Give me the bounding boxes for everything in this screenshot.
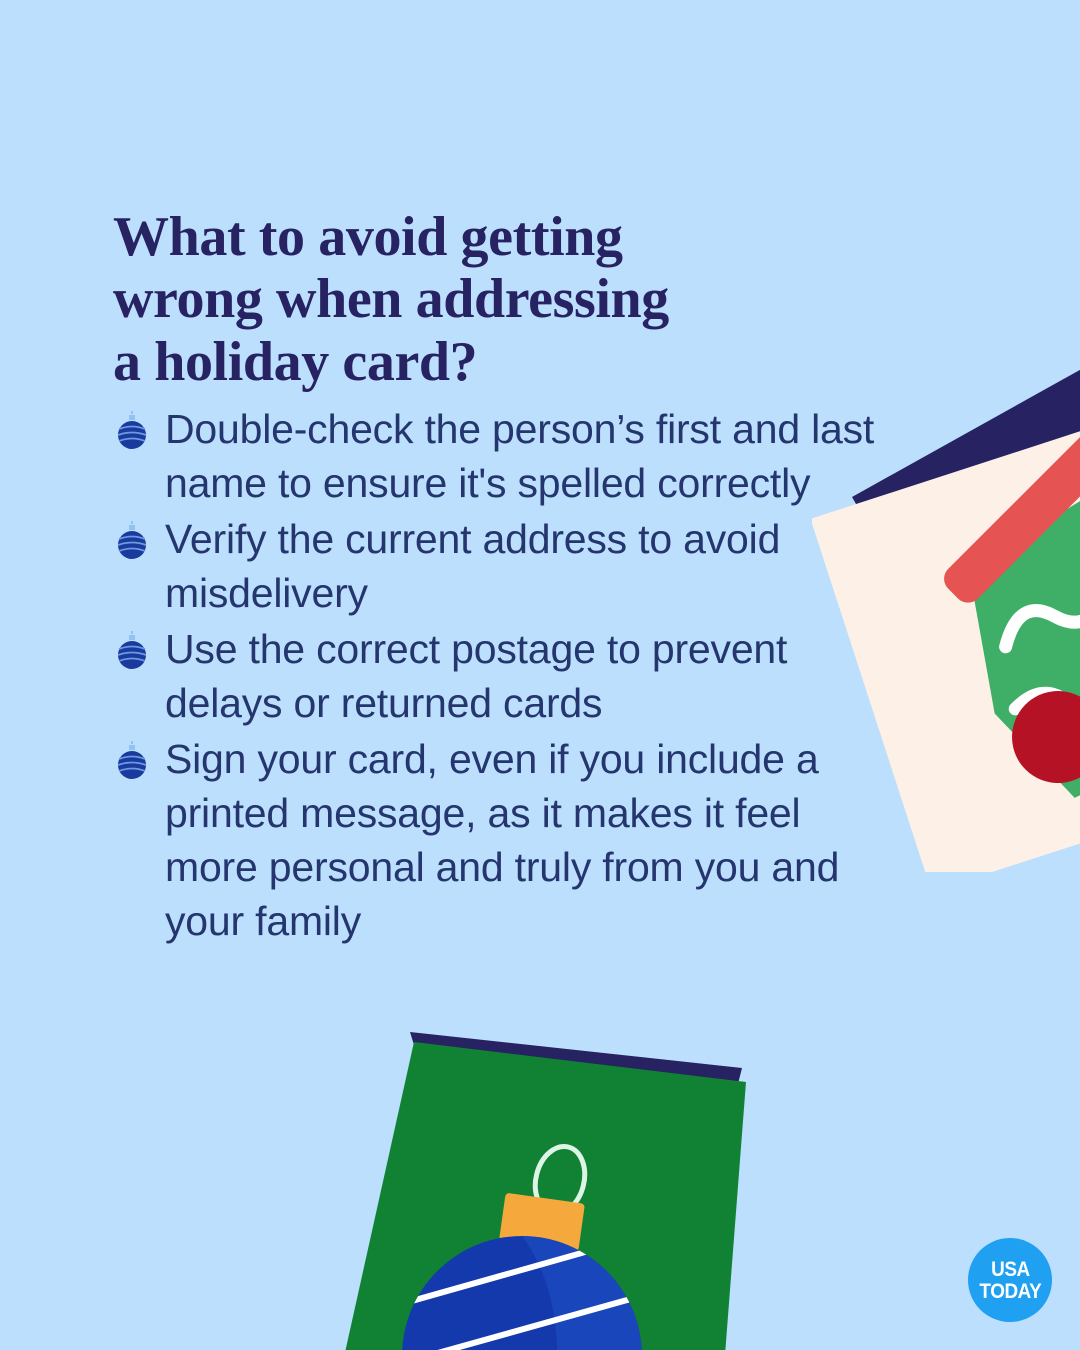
greeting-card-ornament-illustration	[290, 1020, 810, 1350]
page-title: What to avoid getting wrong when address…	[113, 206, 813, 394]
tips-list: Double-check the person’s first and last…	[113, 402, 903, 950]
ornament-bullet-icon	[115, 411, 149, 451]
list-item-label: Use the correct postage to prevent delay…	[165, 626, 787, 726]
headline-line-3: a holiday card?	[113, 331, 813, 394]
ornament-bullet-icon	[115, 631, 149, 671]
usa-today-logo[interactable]: USA TODAY	[968, 1238, 1052, 1322]
ribbon-squiggles	[986, 561, 1080, 788]
ornament-hook	[528, 1141, 591, 1219]
list-item-label: Sign your card, even if you include a pr…	[165, 736, 839, 944]
wreath-green-shape	[939, 471, 1080, 813]
list-item-label: Verify the current address to avoid misd…	[165, 516, 780, 616]
list-item-label: Double-check the person’s first and last…	[165, 406, 874, 506]
card-flap-navy-bottom	[410, 1032, 742, 1155]
infographic-canvas: What to avoid getting wrong when address…	[0, 0, 1080, 1350]
list-item: Sign your card, even if you include a pr…	[113, 732, 903, 948]
headline-line-1: What to avoid getting	[113, 206, 813, 269]
list-item: Double-check the person’s first and last…	[113, 402, 903, 510]
headline-line-2: wrong when addressing	[113, 268, 813, 331]
logo-line-usa: USA	[991, 1259, 1030, 1280]
ornament-cap	[499, 1193, 585, 1252]
red-diagonal-band	[938, 416, 1080, 608]
ornament-stripes	[368, 1228, 670, 1350]
ornament-bullet-icon	[115, 741, 149, 781]
logo-line-today: TODAY	[979, 1281, 1041, 1302]
ornament-highlight	[522, 1236, 642, 1350]
red-ornament-circle	[1000, 679, 1080, 795]
ornament-bullet-icon	[115, 521, 149, 561]
list-item: Use the correct postage to prevent delay…	[113, 622, 903, 730]
card-face-green	[300, 1042, 746, 1350]
list-item: Verify the current address to avoid misd…	[113, 512, 903, 620]
ornament-ball	[402, 1236, 642, 1350]
